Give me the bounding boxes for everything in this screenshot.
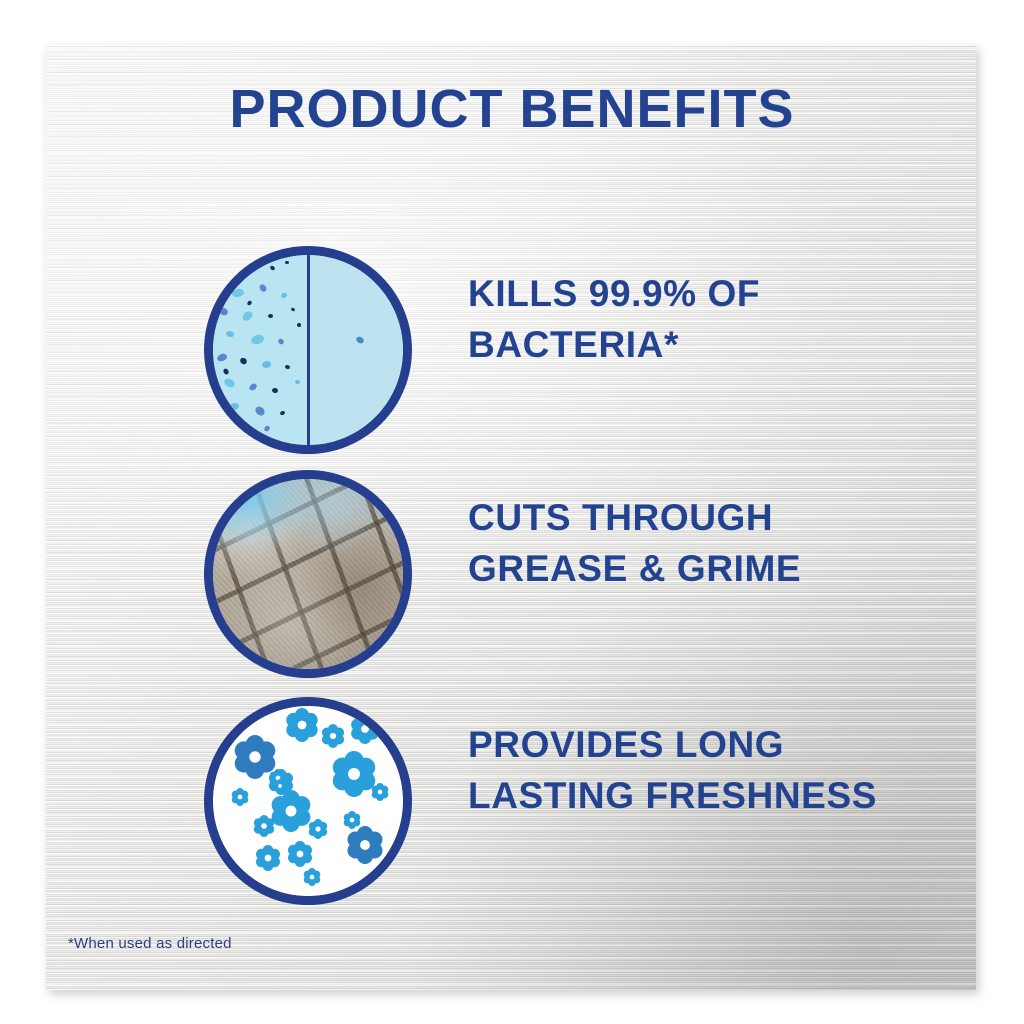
flower-icon — [321, 724, 345, 748]
tile-floor-circle — [204, 470, 412, 678]
flowers-circle — [204, 697, 412, 905]
bacteria-clean-half — [308, 255, 403, 445]
bacteria-speck — [268, 314, 273, 318]
page-title: PRODUCT BENEFITS — [0, 78, 1024, 140]
tile-reflection-highlight — [213, 479, 321, 551]
benefit-line-1: PROVIDES LONG — [468, 719, 908, 770]
benefit-line-2: LASTING FRESHNESS — [468, 770, 908, 821]
flower-icon — [303, 868, 321, 886]
benefit-text-freshness: PROVIDES LONG LASTING FRESHNESS — [468, 719, 908, 821]
flower-icon — [371, 783, 389, 801]
benefit-line-1: KILLS 99.9% OF — [468, 268, 908, 319]
benefit-row-kills-bacteria: KILLS 99.9% OF BACTERIA* — [0, 246, 1024, 456]
infographic-root: PRODUCT BENEFITS KILLS 99.9% OF BACTERIA… — [0, 0, 1024, 1024]
flowers-illustration — [213, 706, 403, 896]
content-layer: PRODUCT BENEFITS KILLS 99.9% OF BACTERIA… — [0, 0, 1024, 1024]
benefit-line-2: GREASE & GRIME — [468, 543, 908, 594]
flower-icon — [255, 845, 281, 871]
flower-icon — [346, 826, 384, 864]
before-after-divider — [307, 255, 310, 445]
flower-icon — [253, 815, 275, 837]
flower-icon — [287, 841, 313, 867]
benefit-line-1: CUTS THROUGH — [468, 492, 908, 543]
benefit-text-cuts-grease: CUTS THROUGH GREASE & GRIME — [468, 492, 908, 594]
bacteria-before-after-circle — [204, 246, 412, 454]
flower-icon — [331, 751, 377, 797]
flower-icon — [285, 708, 319, 742]
flower-icon — [231, 788, 249, 806]
bacteria-speck — [297, 323, 301, 327]
benefit-row-cuts-grease: CUTS THROUGH GREASE & GRIME — [0, 470, 1024, 680]
flower-icon — [270, 790, 312, 832]
bacteria-illustration — [213, 255, 403, 445]
benefit-row-freshness: PROVIDES LONG LASTING FRESHNESS — [0, 697, 1024, 907]
benefit-line-2: BACTERIA* — [468, 319, 908, 370]
flower-icon — [273, 779, 287, 793]
bacteria-speck — [285, 260, 289, 264]
footnote-disclaimer: *When used as directed — [68, 935, 232, 952]
benefit-text-kills-bacteria: KILLS 99.9% OF BACTERIA* — [468, 268, 908, 370]
tile-floor-illustration — [213, 479, 403, 669]
flower-icon — [350, 714, 380, 744]
flower-icon — [308, 819, 328, 839]
